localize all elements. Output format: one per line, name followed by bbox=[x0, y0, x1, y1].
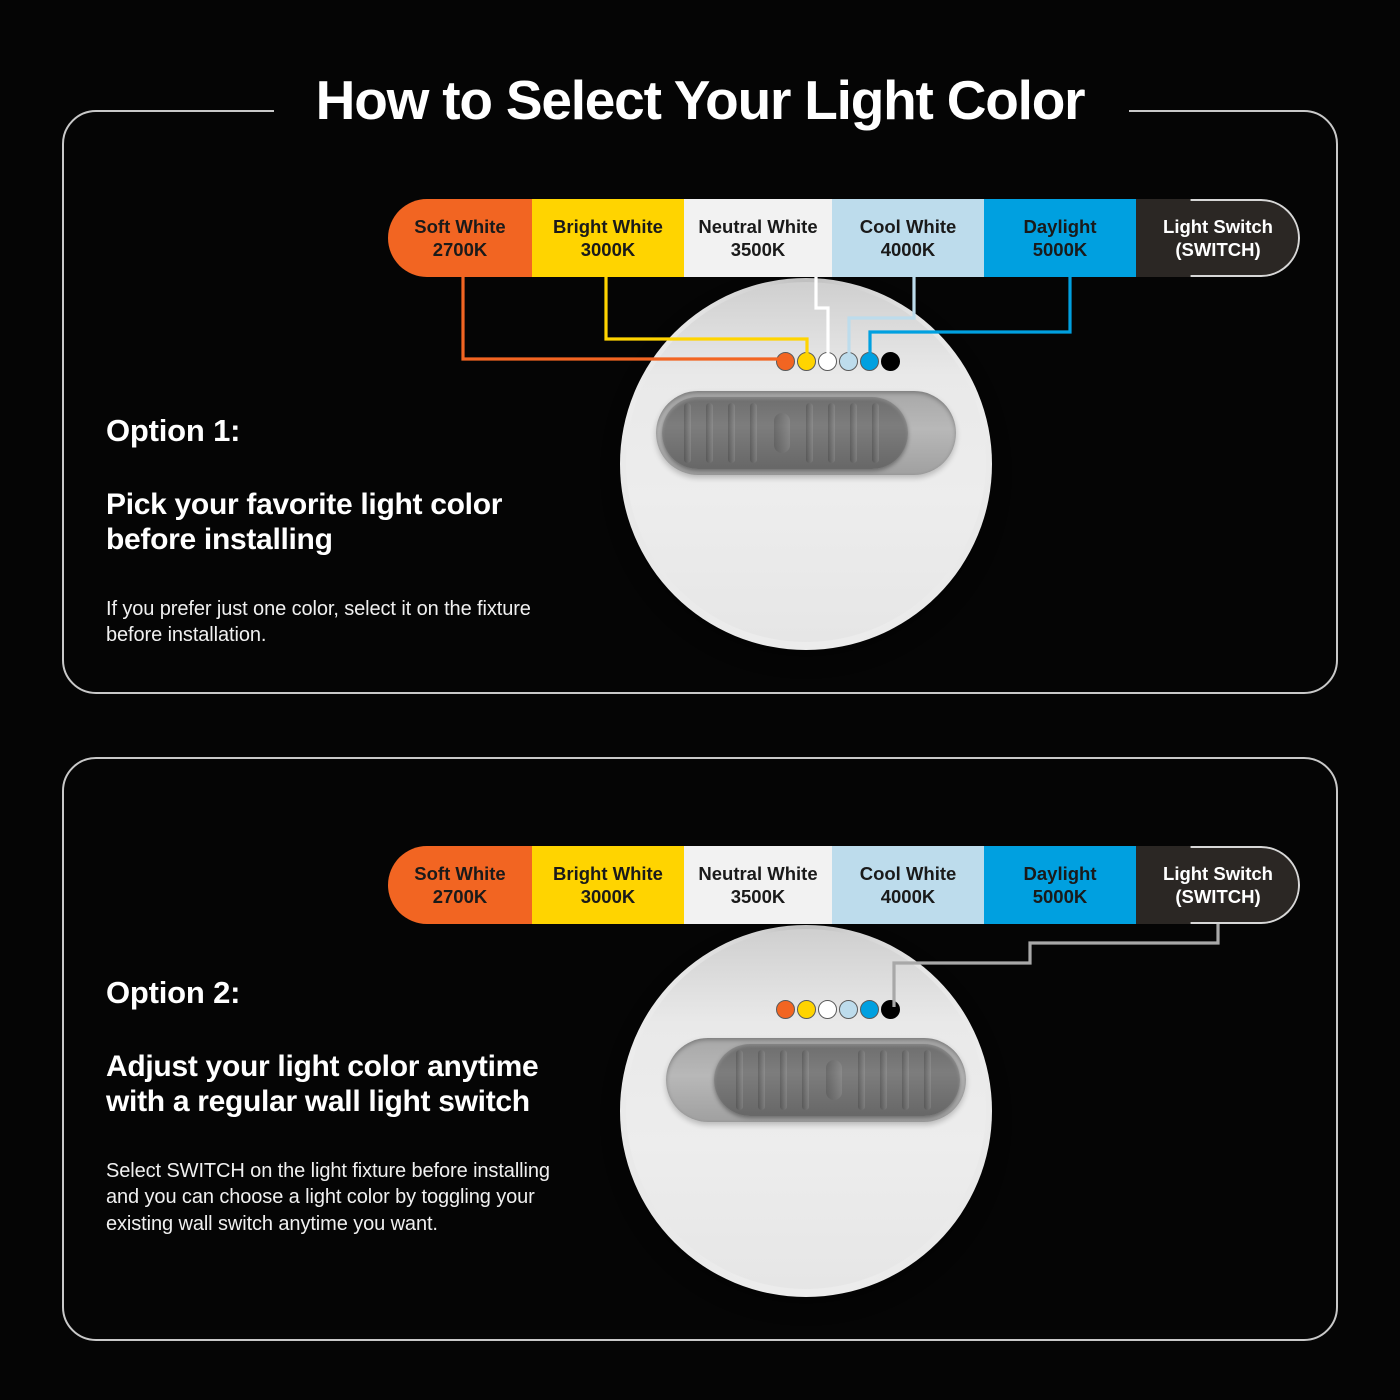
color-dot-light-switch[interactable] bbox=[881, 1000, 900, 1019]
swatch-kelvin: 3000K bbox=[581, 885, 636, 908]
color-dot-light-switch[interactable] bbox=[881, 352, 900, 371]
swatch-name: Daylight bbox=[1024, 862, 1097, 885]
option-1-heading: Pick your favorite light color before in… bbox=[106, 487, 576, 558]
swatch-kelvin: 4000K bbox=[881, 238, 936, 261]
swatch-name: Cool White bbox=[860, 215, 957, 238]
swatch-name: Light Switch bbox=[1163, 215, 1273, 238]
color-selector-track[interactable] bbox=[666, 1038, 966, 1122]
swatch-kelvin: 4000K bbox=[881, 885, 936, 908]
color-dots-option-1 bbox=[776, 352, 900, 371]
light-fixture-option-2 bbox=[620, 925, 992, 1297]
option-2-text: Option 2: Adjust your light color anytim… bbox=[106, 975, 576, 1237]
swatch-neutral-white[interactable]: Neutral White3500K bbox=[684, 199, 832, 277]
option-2-body: Select SWITCH on the light fixture befor… bbox=[106, 1158, 576, 1237]
color-temperature-bar-option-1[interactable]: Soft White2700KBright White3000KNeutral … bbox=[388, 199, 1300, 277]
swatch-name: Daylight bbox=[1024, 215, 1097, 238]
page-title: How to Select Your Light Color bbox=[0, 68, 1400, 132]
light-fixture-option-1 bbox=[620, 278, 992, 650]
swatch-kelvin: (SWITCH) bbox=[1175, 885, 1260, 908]
color-dot-neutral-white[interactable] bbox=[818, 352, 837, 371]
swatch-kelvin: 2700K bbox=[433, 238, 488, 261]
option-2-label: Option 2: bbox=[106, 975, 576, 1011]
color-temperature-bar-option-2[interactable]: Soft White2700KBright White3000KNeutral … bbox=[388, 846, 1300, 924]
color-dot-bright-white[interactable] bbox=[797, 352, 816, 371]
color-dot-daylight[interactable] bbox=[860, 1000, 879, 1019]
swatch-light-switch[interactable]: Light Switch(SWITCH) bbox=[1136, 199, 1300, 277]
swatch-soft-white[interactable]: Soft White2700K bbox=[388, 199, 532, 277]
swatch-kelvin: 3500K bbox=[731, 885, 786, 908]
swatch-name: Neutral White bbox=[698, 862, 817, 885]
swatch-name: Bright White bbox=[553, 862, 663, 885]
swatch-daylight[interactable]: Daylight5000K bbox=[984, 846, 1136, 924]
swatch-cool-white[interactable]: Cool White4000K bbox=[832, 199, 984, 277]
option-1-label: Option 1: bbox=[106, 413, 576, 449]
swatch-soft-white[interactable]: Soft White2700K bbox=[388, 846, 532, 924]
color-dots-option-2 bbox=[776, 1000, 900, 1019]
swatch-kelvin: 3000K bbox=[581, 238, 636, 261]
color-dot-neutral-white[interactable] bbox=[818, 1000, 837, 1019]
swatch-kelvin: 3500K bbox=[731, 238, 786, 261]
swatch-light-switch[interactable]: Light Switch(SWITCH) bbox=[1136, 846, 1300, 924]
swatch-cool-white[interactable]: Cool White4000K bbox=[832, 846, 984, 924]
option-1-text: Option 1: Pick your favorite light color… bbox=[106, 413, 576, 649]
color-dot-bright-white[interactable] bbox=[797, 1000, 816, 1019]
color-dot-soft-white[interactable] bbox=[776, 1000, 795, 1019]
swatch-daylight[interactable]: Daylight5000K bbox=[984, 199, 1136, 277]
swatch-kelvin: 5000K bbox=[1033, 238, 1088, 261]
swatch-name: Soft White bbox=[414, 862, 505, 885]
swatch-name: Bright White bbox=[553, 215, 663, 238]
option-2-heading: Adjust your light color anytime with a r… bbox=[106, 1049, 576, 1120]
color-dot-cool-white[interactable] bbox=[839, 1000, 858, 1019]
swatch-kelvin: 2700K bbox=[433, 885, 488, 908]
color-dot-daylight[interactable] bbox=[860, 352, 879, 371]
swatch-name: Soft White bbox=[414, 215, 505, 238]
swatch-bright-white[interactable]: Bright White3000K bbox=[532, 199, 684, 277]
swatch-name: Neutral White bbox=[698, 215, 817, 238]
swatch-bright-white[interactable]: Bright White3000K bbox=[532, 846, 684, 924]
option-1-body: If you prefer just one color, select it … bbox=[106, 596, 576, 649]
color-selector-track[interactable] bbox=[656, 391, 956, 475]
color-selector-knob[interactable] bbox=[662, 397, 908, 469]
infographic-canvas: How to Select Your Light Color bbox=[0, 0, 1400, 1400]
swatch-neutral-white[interactable]: Neutral White3500K bbox=[684, 846, 832, 924]
swatch-name: Cool White bbox=[860, 862, 957, 885]
swatch-kelvin: 5000K bbox=[1033, 885, 1088, 908]
swatch-kelvin: (SWITCH) bbox=[1175, 238, 1260, 261]
color-selector-knob[interactable] bbox=[714, 1044, 960, 1116]
swatch-name: Light Switch bbox=[1163, 862, 1273, 885]
color-dot-soft-white[interactable] bbox=[776, 352, 795, 371]
color-dot-cool-white[interactable] bbox=[839, 352, 858, 371]
